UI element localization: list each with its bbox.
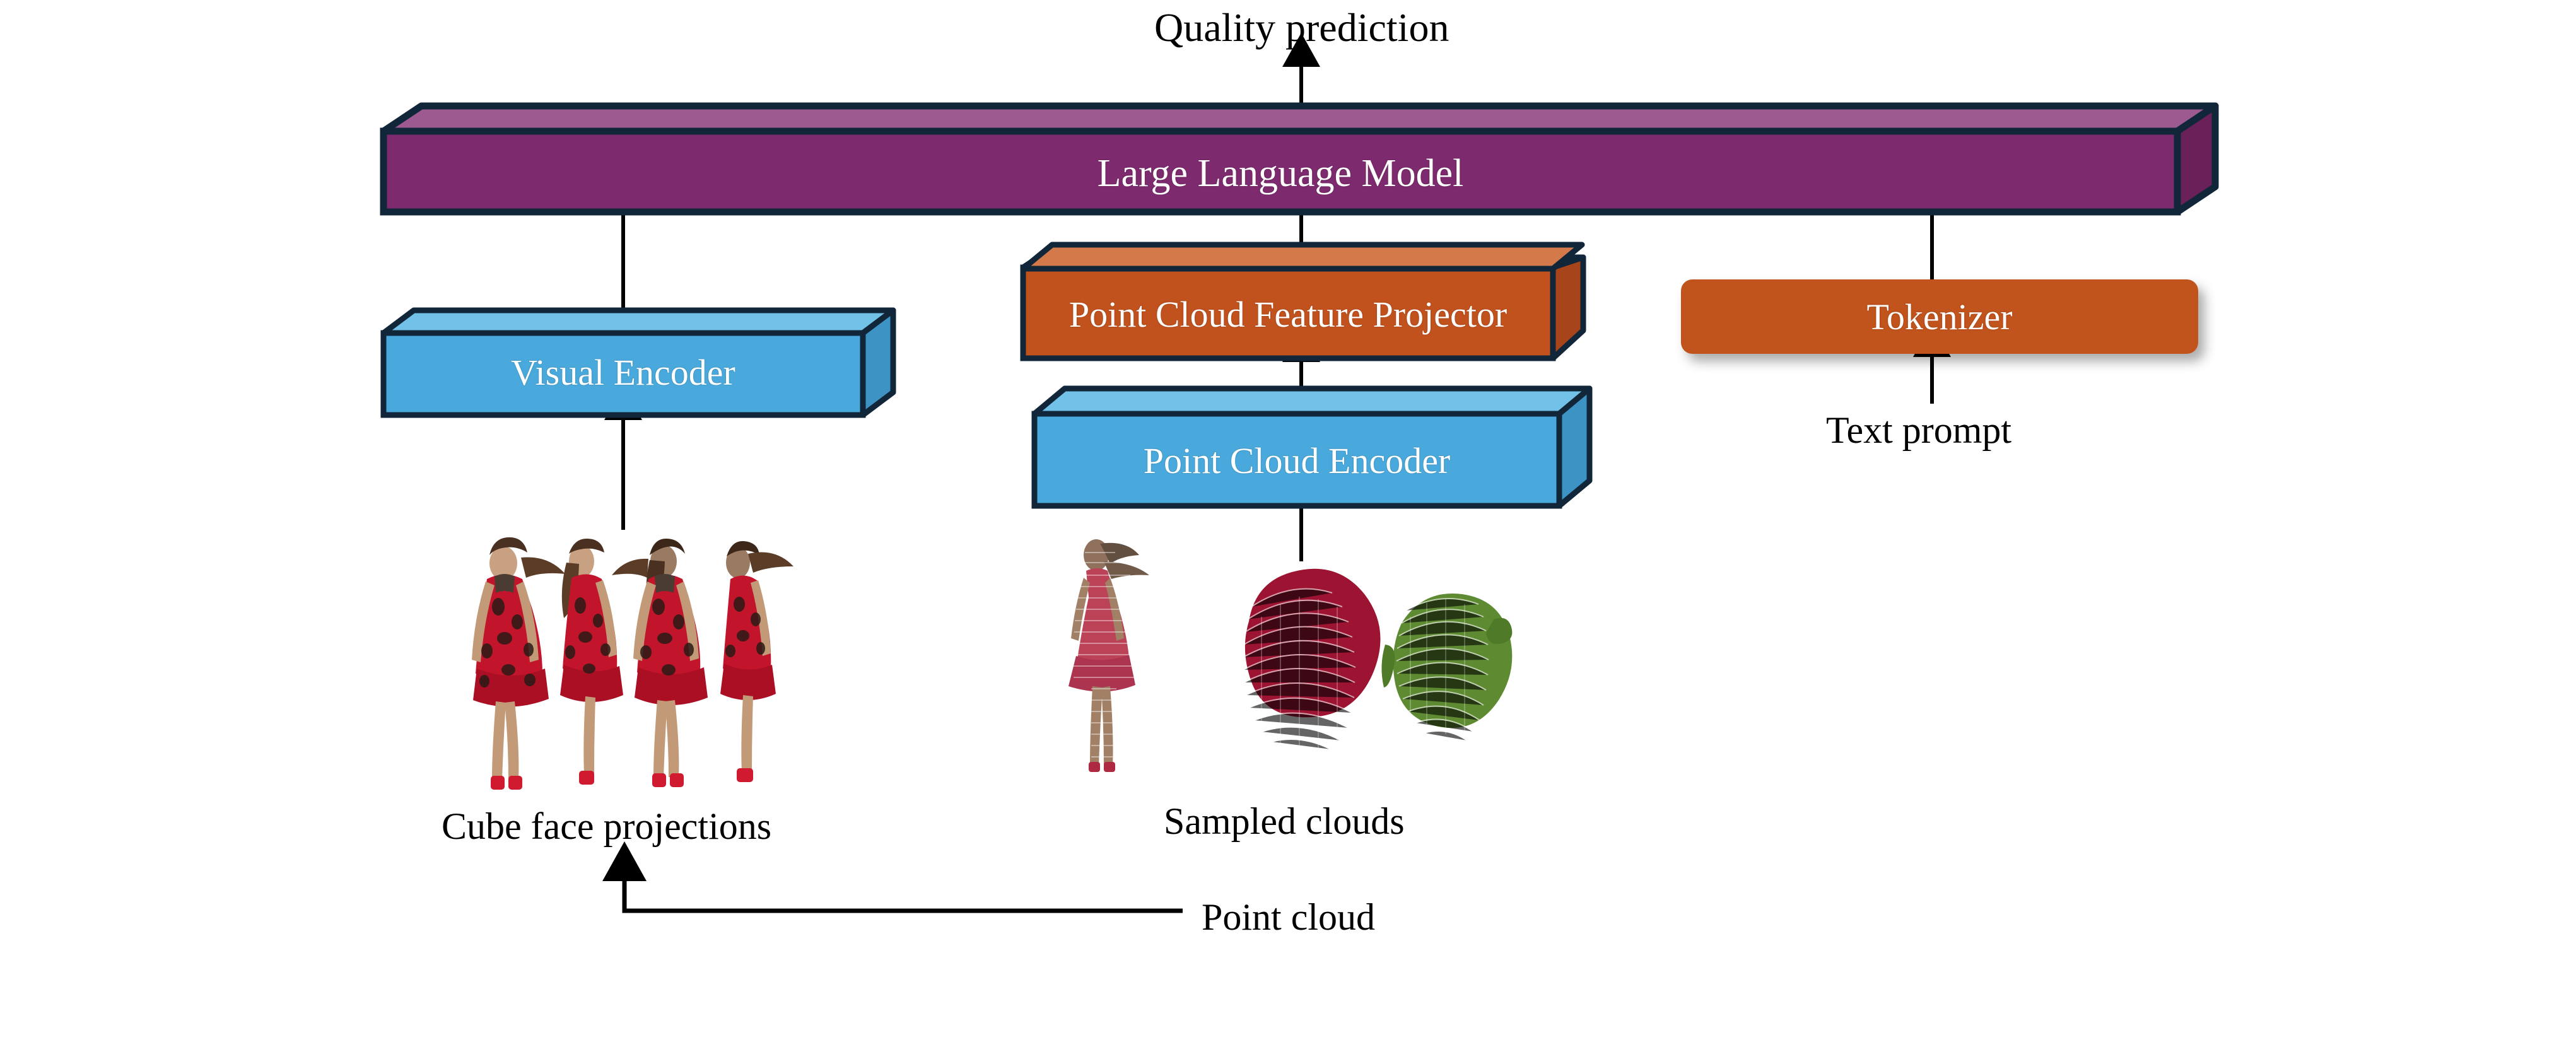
arrow-point-cloud-to-projections xyxy=(624,877,1183,911)
large-language-model-label: Large Language Model xyxy=(383,154,2177,193)
sampled-clouds-thumbnail xyxy=(1068,539,1512,772)
red-object-point-cloud xyxy=(1243,569,1381,749)
point-cloud-encoder-label: Point Cloud Encoder xyxy=(1034,443,1559,479)
human-point-cloud xyxy=(1068,539,1149,772)
cube-face-projections-thumbnail xyxy=(472,537,793,790)
projection-view-4 xyxy=(720,541,793,782)
quality-prediction-label: Quality prediction xyxy=(1154,8,1449,48)
tokenizer-label: Tokenizer xyxy=(1681,299,2198,336)
diagram-canvas: Quality prediction Large Language Model … xyxy=(0,0,2576,1047)
visual-encoder-label: Visual Encoder xyxy=(383,354,863,391)
point-cloud-label: Point cloud xyxy=(1202,898,1375,936)
projection-view-1 xyxy=(472,537,565,790)
cube-face-projections-label: Cube face projections xyxy=(442,807,771,845)
sampled-clouds-label: Sampled clouds xyxy=(1164,802,1405,840)
point-cloud-feature-projector-label: Point Cloud Feature Projector xyxy=(1023,296,1553,333)
projection-view-3 xyxy=(612,539,708,787)
projection-view-2 xyxy=(560,539,623,785)
green-object-point-cloud xyxy=(1381,594,1512,740)
text-prompt-label: Text prompt xyxy=(1826,411,2011,449)
